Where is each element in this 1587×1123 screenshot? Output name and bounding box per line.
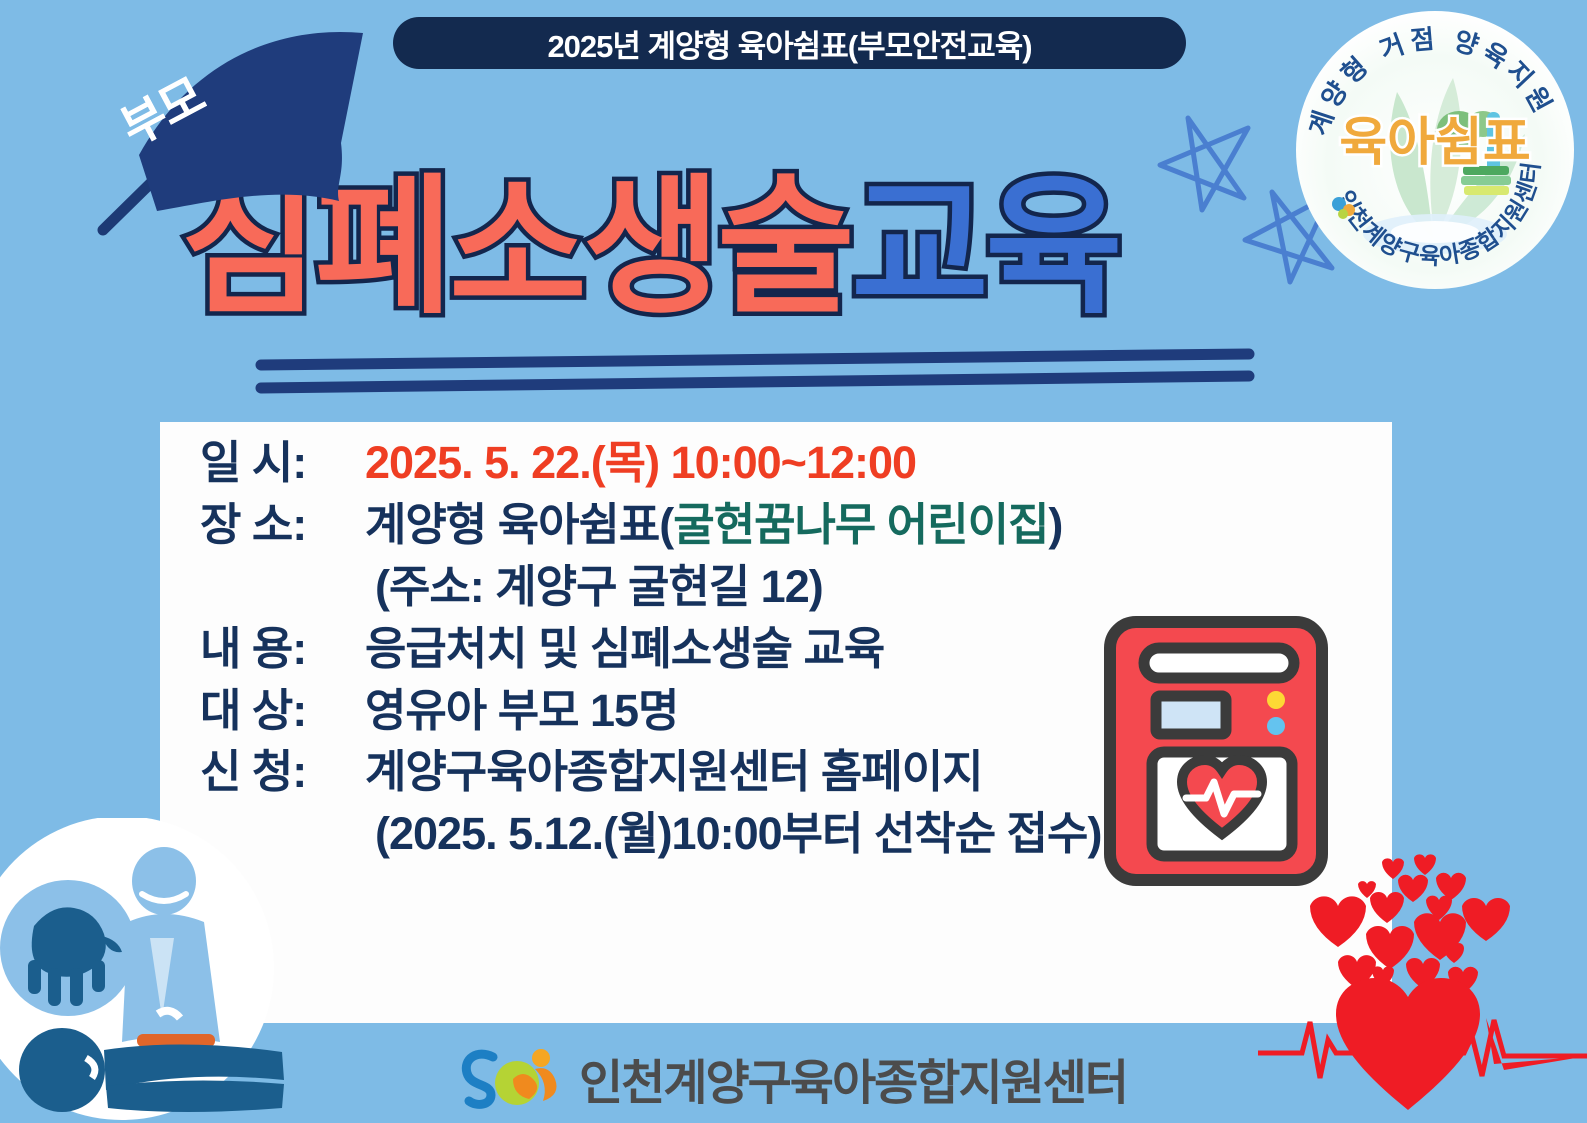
detail-value-application: 계양구육아종합지원센터 홈페이지 (365, 746, 983, 797)
detail-value-content: 응급처치 및 심폐소생술 교육 (365, 623, 884, 674)
detail-label-location: 장 소: (200, 502, 365, 548)
detail-label-audience: 대 상: (200, 688, 365, 734)
title-secondary: 교육 (851, 172, 1119, 322)
center-emblem-logo: 육아쉼표 계양형 거점 양육지원 인천계양구육아종합지원센터 (1293, 8, 1577, 292)
detail-row-datetime: 일 시:2025. 5. 22.(목) 10:00~12:00 (200, 440, 1400, 486)
detail-value-audience: 영유아 부모 15명 (365, 685, 678, 736)
footer-logo: 인천계양구육아종합지원센터 (455, 1038, 1155, 1118)
poster-root: 2025년 계양형 육아쉼표(부모안전교육) 부모 (0, 0, 1587, 1123)
detail-label-datetime: 일 시: (200, 440, 365, 486)
footer-organization-name: 인천계양구육아종합지원센터 (579, 1043, 1127, 1113)
detail-row-location: 장 소:계양형 육아쉼표(굴현꿈나무 어린이집) (200, 502, 1400, 548)
heart-with-ecg-icon (1258, 838, 1587, 1123)
detail-value-location-prefix: 계양형 육아쉼표( (365, 499, 673, 550)
header-banner: 2025년 계양형 육아쉼표(부모안전교육) (393, 17, 1186, 69)
center-brand-mark (455, 1043, 567, 1113)
detail-value-location-venue: 굴현꿈나무 어린이집 (673, 499, 1048, 550)
detail-label-content: 내 용: (200, 626, 365, 672)
detail-value-location-suffix: ) (1048, 499, 1062, 550)
detail-label-application: 신 청: (200, 749, 365, 795)
detail-value-datetime: 2025. 5. 22.(목) 10:00~12:00 (365, 437, 916, 488)
logo-center-text: 육아쉼표 (1339, 114, 1530, 172)
divider (255, 345, 1255, 400)
detail-sub-address: (주소: 계양구 굴현길 12) (200, 564, 1400, 610)
cpr-chest-compression-icon (0, 818, 292, 1123)
